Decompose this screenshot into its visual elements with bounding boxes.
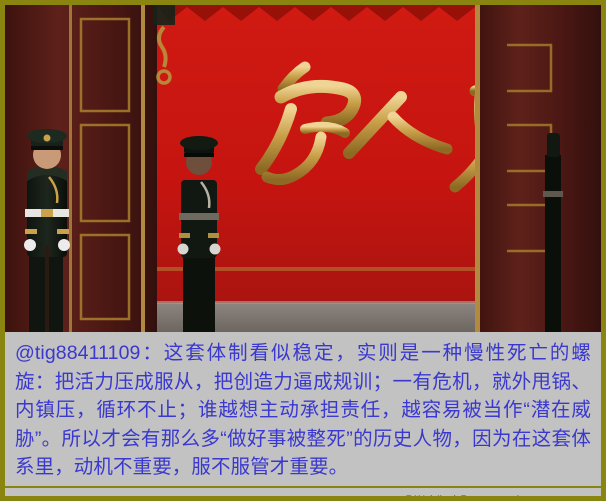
post-handle-separator: ： — [140, 342, 163, 364]
post-author-handle[interactable]: @tig88411109 — [15, 342, 140, 364]
post-footer: 【微博谈】2025年4月14日 — [5, 488, 601, 501]
honor-guard-right — [543, 133, 563, 332]
weibo-post-card: @tig88411109：这套体制看似稳定，实则是一种慢性死亡的螺旋：把活力压成… — [0, 0, 606, 501]
post-photo[interactable] — [5, 5, 601, 332]
post-text: @tig88411109：这套体制看似稳定，实则是一种慢性死亡的螺旋：把活力压成… — [5, 332, 601, 486]
footer-source: 【微博谈】 — [396, 496, 477, 501]
photo-illustration — [5, 5, 601, 332]
footer-source-and-date: 【微博谈】2025年4月14日 — [396, 490, 589, 501]
footer-date: 2025年4月14日 — [477, 496, 589, 501]
